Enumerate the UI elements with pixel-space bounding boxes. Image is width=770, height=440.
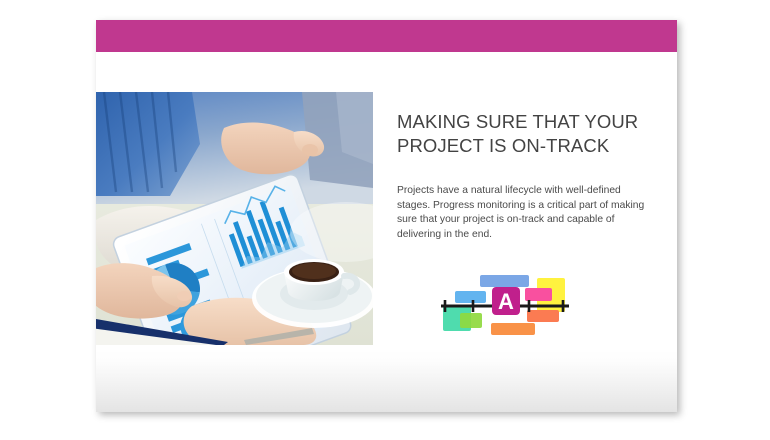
bar-orange-right — [527, 310, 559, 322]
slide-accent-bar — [96, 20, 677, 52]
bar-blue-left — [455, 291, 486, 303]
timeline-artwork: A — [435, 265, 575, 337]
slide-text-column: MAKING SURE THAT YOUR PROJECT IS ON-TRAC… — [397, 110, 652, 242]
slide-footer-gradient — [96, 350, 677, 412]
bar-blue-top — [480, 275, 529, 287]
project-timeline-illustration: A — [435, 265, 575, 337]
bar-pink — [525, 288, 552, 301]
photo-artwork — [96, 92, 373, 345]
slide-body-text: Projects have a natural lifecycle with w… — [397, 184, 652, 242]
bar-green — [460, 313, 482, 328]
page-title: MAKING SURE THAT YOUR PROJECT IS ON-TRAC… — [397, 110, 652, 158]
timeline-badge-a: A — [492, 287, 520, 315]
business-tablet-analytics-photo — [96, 92, 373, 345]
timeline-badge-label: A — [498, 289, 514, 314]
slide-card: MAKING SURE THAT YOUR PROJECT IS ON-TRAC… — [96, 20, 677, 412]
bar-orange-bottom — [491, 323, 535, 335]
